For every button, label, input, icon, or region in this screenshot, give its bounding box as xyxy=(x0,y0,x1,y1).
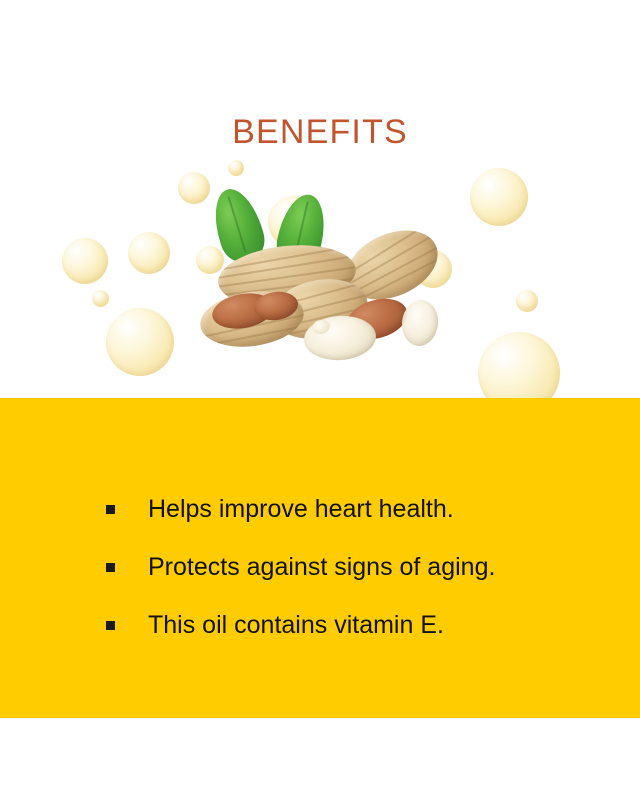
peanut-pod-far-right xyxy=(400,298,441,348)
list-item: This oil contains vitamin E. xyxy=(106,596,606,654)
bubble-right-upper xyxy=(470,168,528,226)
peanut-group xyxy=(196,188,446,368)
bubble-top-tiny xyxy=(228,160,244,176)
list-item: Helps improve heart health. xyxy=(106,480,606,538)
benefits-band: Helps improve heart health. Protects aga… xyxy=(0,398,640,718)
list-item-label: This oil contains vitamin E. xyxy=(148,610,444,640)
list-item: Protects against signs of aging. xyxy=(106,538,606,596)
bubble-mid-left xyxy=(128,232,170,274)
list-item-label: Helps improve heart health. xyxy=(148,494,454,524)
benefits-list: Helps improve heart health. Protects aga… xyxy=(106,480,606,654)
bubble-left-large xyxy=(106,308,174,376)
bubble-left-tiny xyxy=(92,290,109,307)
square-bullet-icon xyxy=(106,505,115,514)
page-title: BENEFITS xyxy=(0,112,640,152)
slide-canvas: BENEFITS xyxy=(0,0,640,800)
square-bullet-icon xyxy=(106,621,115,630)
square-bullet-icon xyxy=(106,563,115,572)
bubble-left-upper xyxy=(62,238,108,284)
bubble-right-tiny xyxy=(516,290,538,312)
hero-illustration xyxy=(0,150,640,385)
list-item-label: Protects against signs of aging. xyxy=(148,552,495,582)
